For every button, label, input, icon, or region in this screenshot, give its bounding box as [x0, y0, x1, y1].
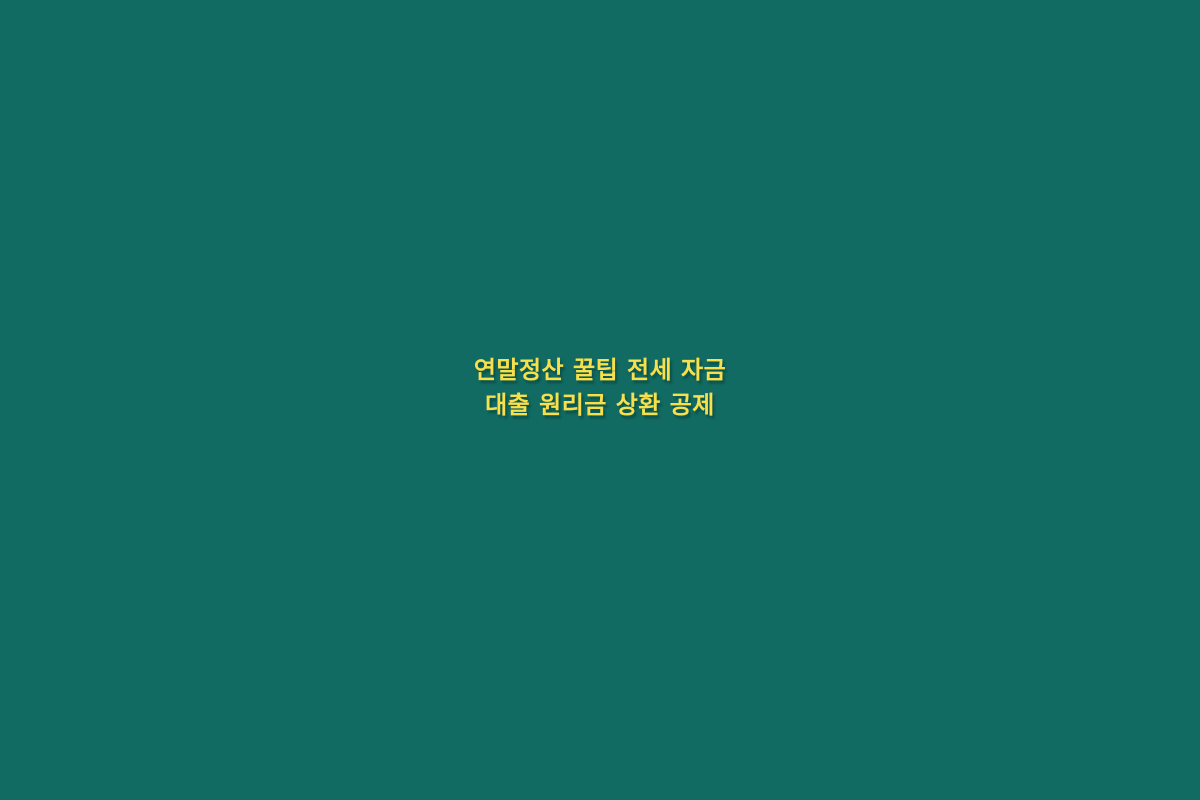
headline-block: 연말정산 꿀팁 전세 자금 대출 원리금 상환 공제 [40, 354, 1160, 421]
title-banner: 연말정산 꿀팁 전세 자금 대출 원리금 상환 공제 [0, 0, 1200, 800]
headline-line-1: 연말정산 꿀팁 전세 자금 [40, 354, 1160, 387]
headline-line-2: 대출 원리금 상환 공제 [40, 389, 1160, 422]
